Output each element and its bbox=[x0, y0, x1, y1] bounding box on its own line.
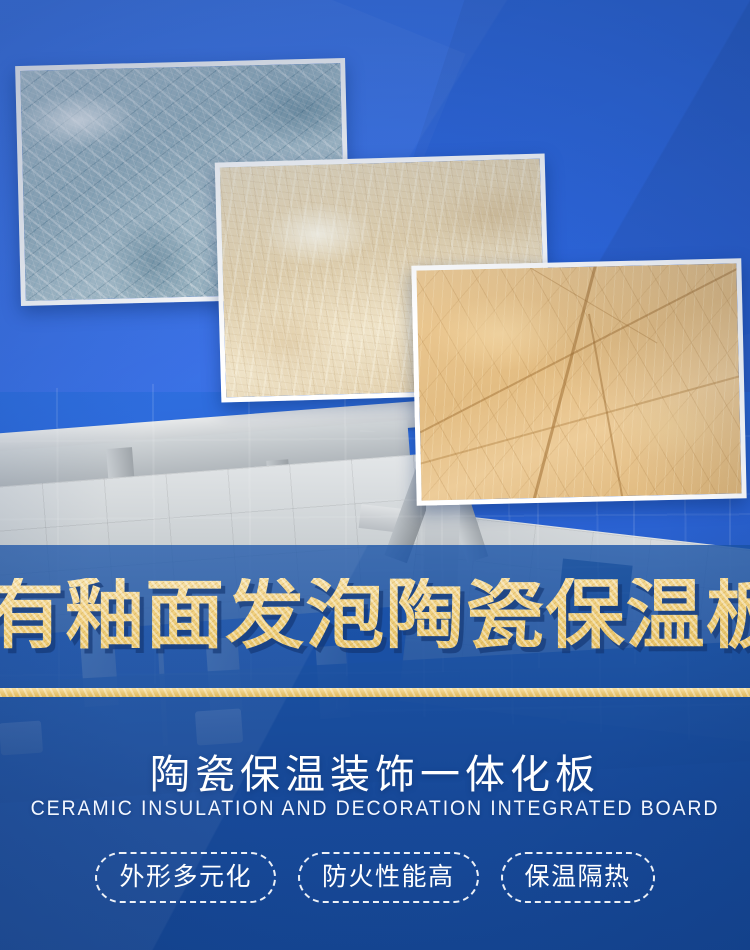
product-promo-banner: 有釉面发泡陶瓷保温板 陶瓷保温装饰一体化板 CERAMIC INSULATION… bbox=[0, 0, 750, 950]
feature-pill-2: 防火性能高 bbox=[298, 852, 479, 903]
feature-pill-group: 外形多元化 防火性能高 保温隔热 bbox=[0, 852, 750, 903]
subtitle-english: CERAMIC INSULATION AND DECORATION INTEGR… bbox=[26, 797, 724, 821]
subtitle-chinese: 陶瓷保温装饰一体化板 bbox=[0, 742, 750, 800]
headline-title: 有釉面发泡陶瓷保温板 bbox=[0, 578, 750, 654]
feature-pill-3: 保温隔热 bbox=[501, 852, 655, 903]
gold-divider-bar bbox=[0, 688, 750, 697]
feature-pill-1: 外形多元化 bbox=[95, 852, 276, 903]
